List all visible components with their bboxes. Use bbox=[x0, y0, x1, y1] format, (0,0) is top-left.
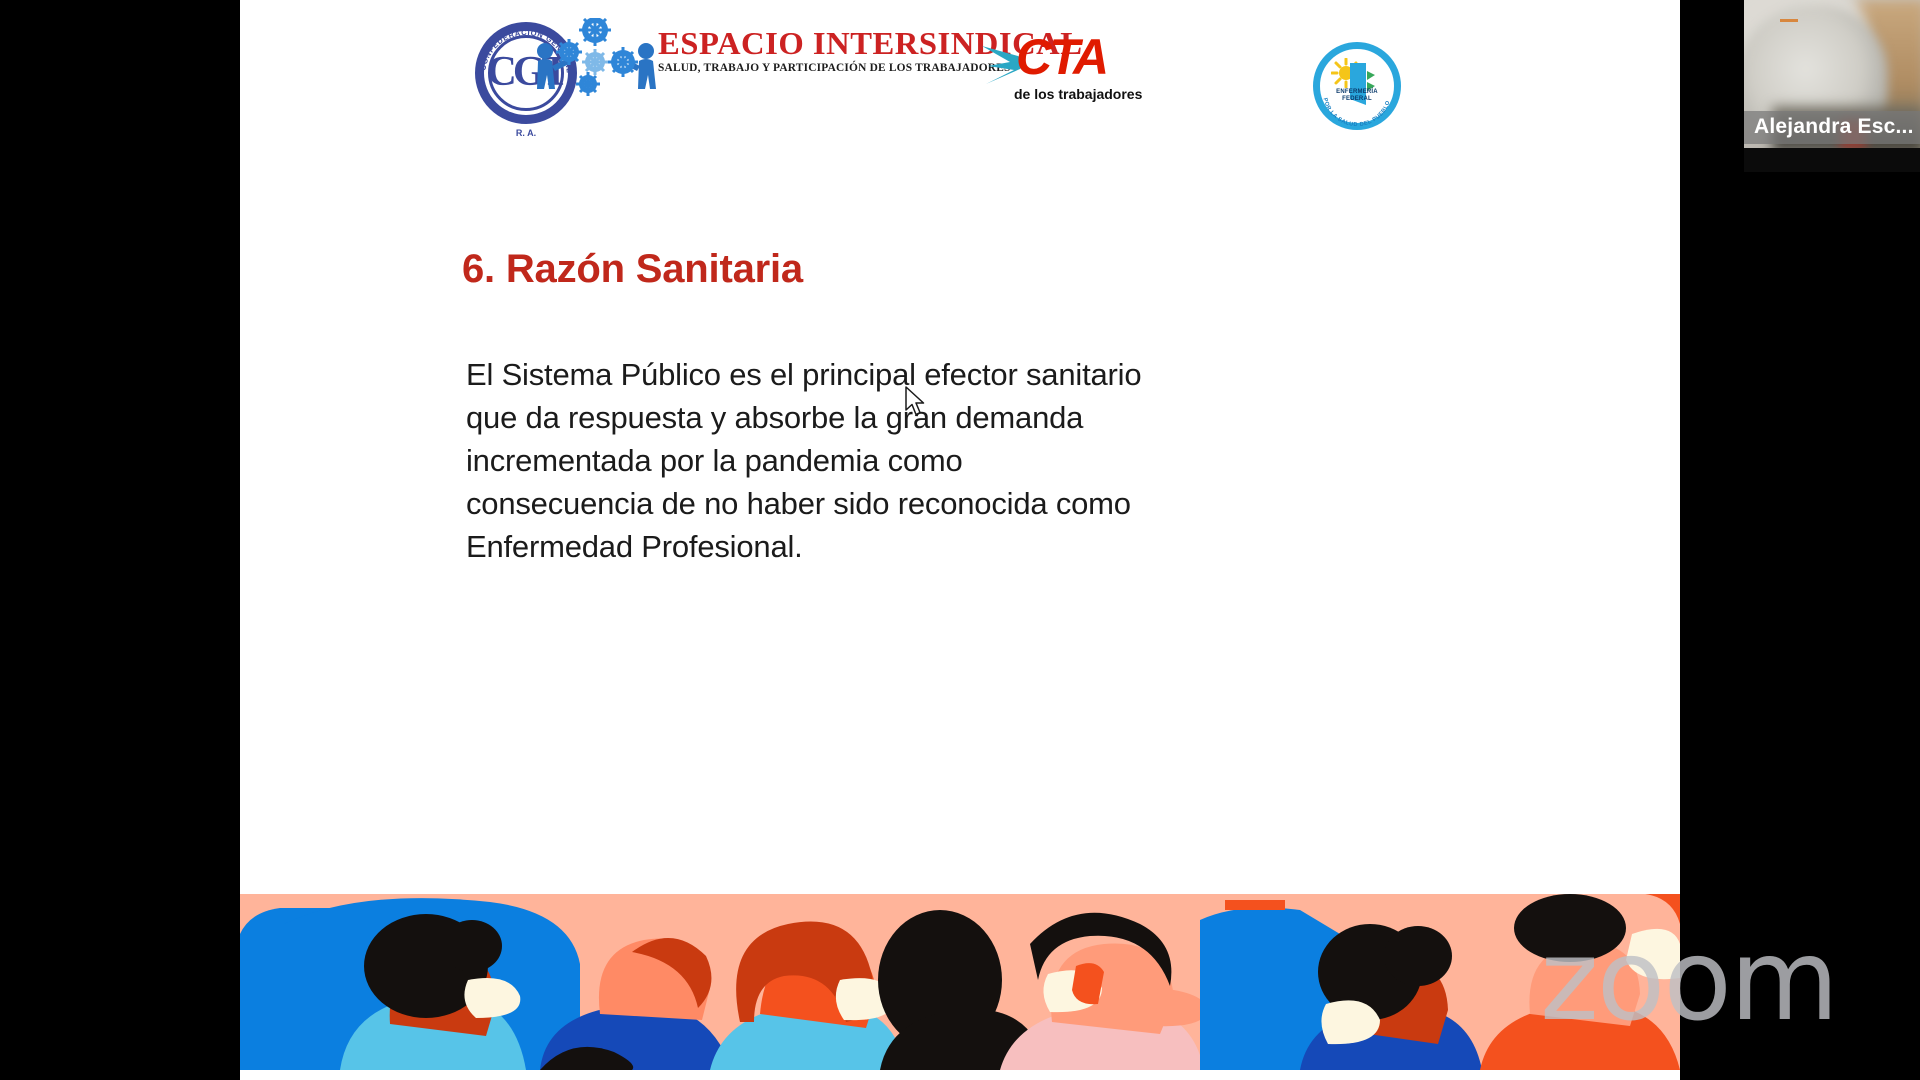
video-bottom-letterbox bbox=[1744, 148, 1920, 172]
espacio-intersindical-title: ESPACIO INTERSINDICAL bbox=[658, 26, 954, 60]
enfermeria-federal-logo: ENFERMERÍA FEDERAL POR LA SALUD DEL PUEB… bbox=[1313, 42, 1401, 130]
people-with-masks-illustration bbox=[240, 894, 1680, 1070]
espacio-intersindical-text: ESPACIO INTERSINDICAL SALUD, TRABAJO Y P… bbox=[658, 26, 948, 74]
slide-bottom-white-bar bbox=[240, 1070, 1680, 1080]
slide-title: 6. Razón Sanitaria bbox=[462, 247, 803, 292]
cta-logo: CTA de los trabajadores bbox=[980, 32, 1160, 112]
cta-wordmark: CTA bbox=[1016, 32, 1106, 82]
participant-name-label: Alejandra Esc... bbox=[1744, 111, 1920, 144]
cta-subtitle: de los trabajadores bbox=[1014, 86, 1142, 102]
ef-arc-text: POR LA SALUD DEL PUEBLO bbox=[1313, 42, 1401, 130]
zoom-screenshare-screen: CONFEDERACION GENERAL DEL TRABAJO CGT R.… bbox=[0, 0, 1920, 1080]
ef-arc-label: POR LA SALUD DEL PUEBLO bbox=[1322, 97, 1392, 128]
slide-body-text: El Sistema Público es el principal efect… bbox=[466, 353, 1166, 568]
svg-text:POR LA SALUD DEL PUEBLO: POR LA SALUD DEL PUEBLO bbox=[1322, 97, 1392, 128]
cgt-footer-text: R. A. bbox=[475, 128, 577, 138]
espacio-intersindical-subtitle: SALUD, TRABAJO Y PARTICIPACIÓN DE LOS TR… bbox=[658, 62, 948, 74]
logo-strip: CONFEDERACION GENERAL DEL TRABAJO CGT R.… bbox=[240, 0, 1680, 160]
participant-video-thumbnail[interactable]: Alejandra Esc... bbox=[1744, 0, 1920, 172]
orange-dash-indicator bbox=[1780, 19, 1798, 22]
espacio-intersindical-gears-icon bbox=[528, 18, 663, 114]
presentation-slide: CONFEDERACION GENERAL DEL TRABAJO CGT R.… bbox=[240, 0, 1680, 1080]
